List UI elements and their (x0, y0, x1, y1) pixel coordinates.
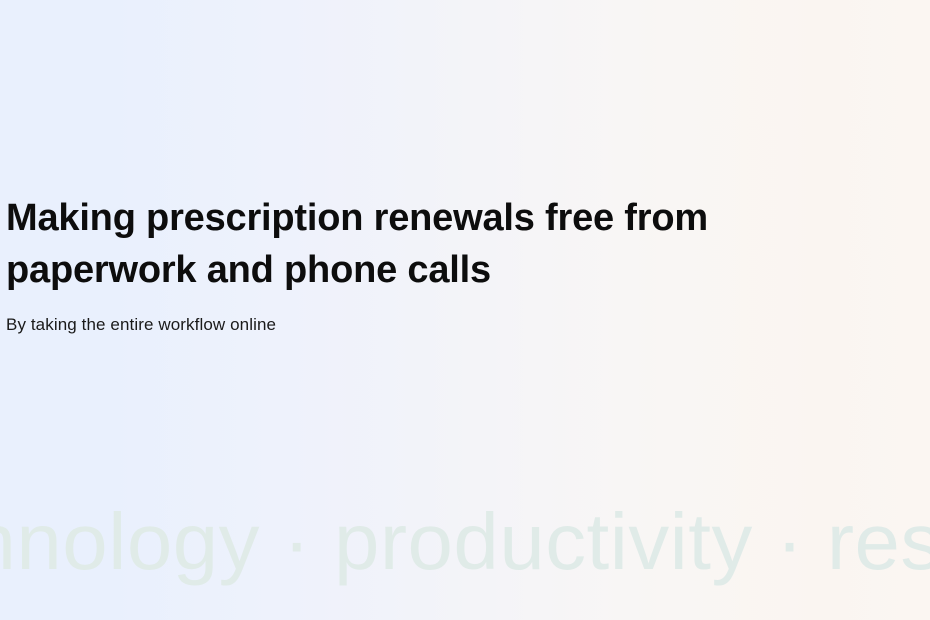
hero-copy-block: Making prescription renewals free from p… (6, 192, 906, 338)
page-title: Making prescription renewals free from p… (6, 192, 886, 296)
decorative-ghost-text-strip: technology · productivity · results (0, 492, 930, 592)
hero-banner: technology · productivity · results Maki… (0, 0, 930, 620)
page-subtitle: By taking the entire workflow online (6, 296, 906, 338)
ghost-text: technology · productivity · results (0, 502, 930, 582)
